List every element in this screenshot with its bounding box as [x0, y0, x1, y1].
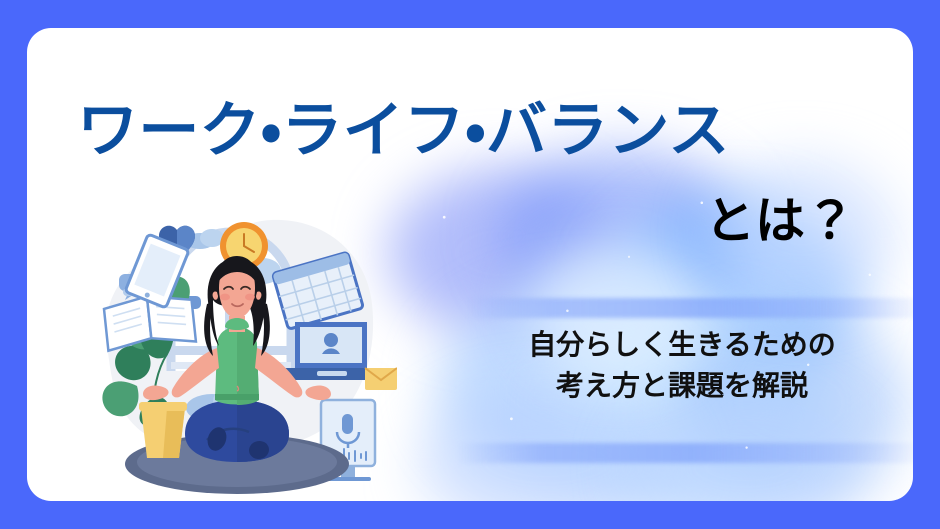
lead-line-2: 考え方と課題を解説	[447, 365, 913, 406]
wash-band-upper	[467, 298, 913, 318]
envelope-icon	[365, 368, 397, 390]
lead-line-1: 自分らしく生きるための	[447, 324, 913, 365]
wash-blob	[627, 393, 867, 501]
wash-band-lower	[457, 443, 913, 463]
lead-text: 自分らしく生きるための 考え方と課題を解説	[447, 324, 913, 407]
content-card: ワーク・ライフ・バランス とは？ 自分らしく生きるための 考え方と課題を解説	[27, 28, 913, 501]
wash-blob	[387, 168, 617, 338]
meditating-woman-illustration	[67, 196, 397, 496]
page-title: ワーク・ライフ・バランス	[77, 101, 913, 161]
wash-speckle	[377, 138, 913, 498]
title-question-suffix: とは？	[705, 196, 855, 246]
laptop-icon	[285, 322, 377, 380]
banner-root: ワーク・ライフ・バランス とは？ 自分らしく生きるための 考え方と課題を解説	[0, 0, 940, 529]
potted-plant-icon	[139, 402, 187, 458]
watercolor-wash	[377, 138, 913, 498]
